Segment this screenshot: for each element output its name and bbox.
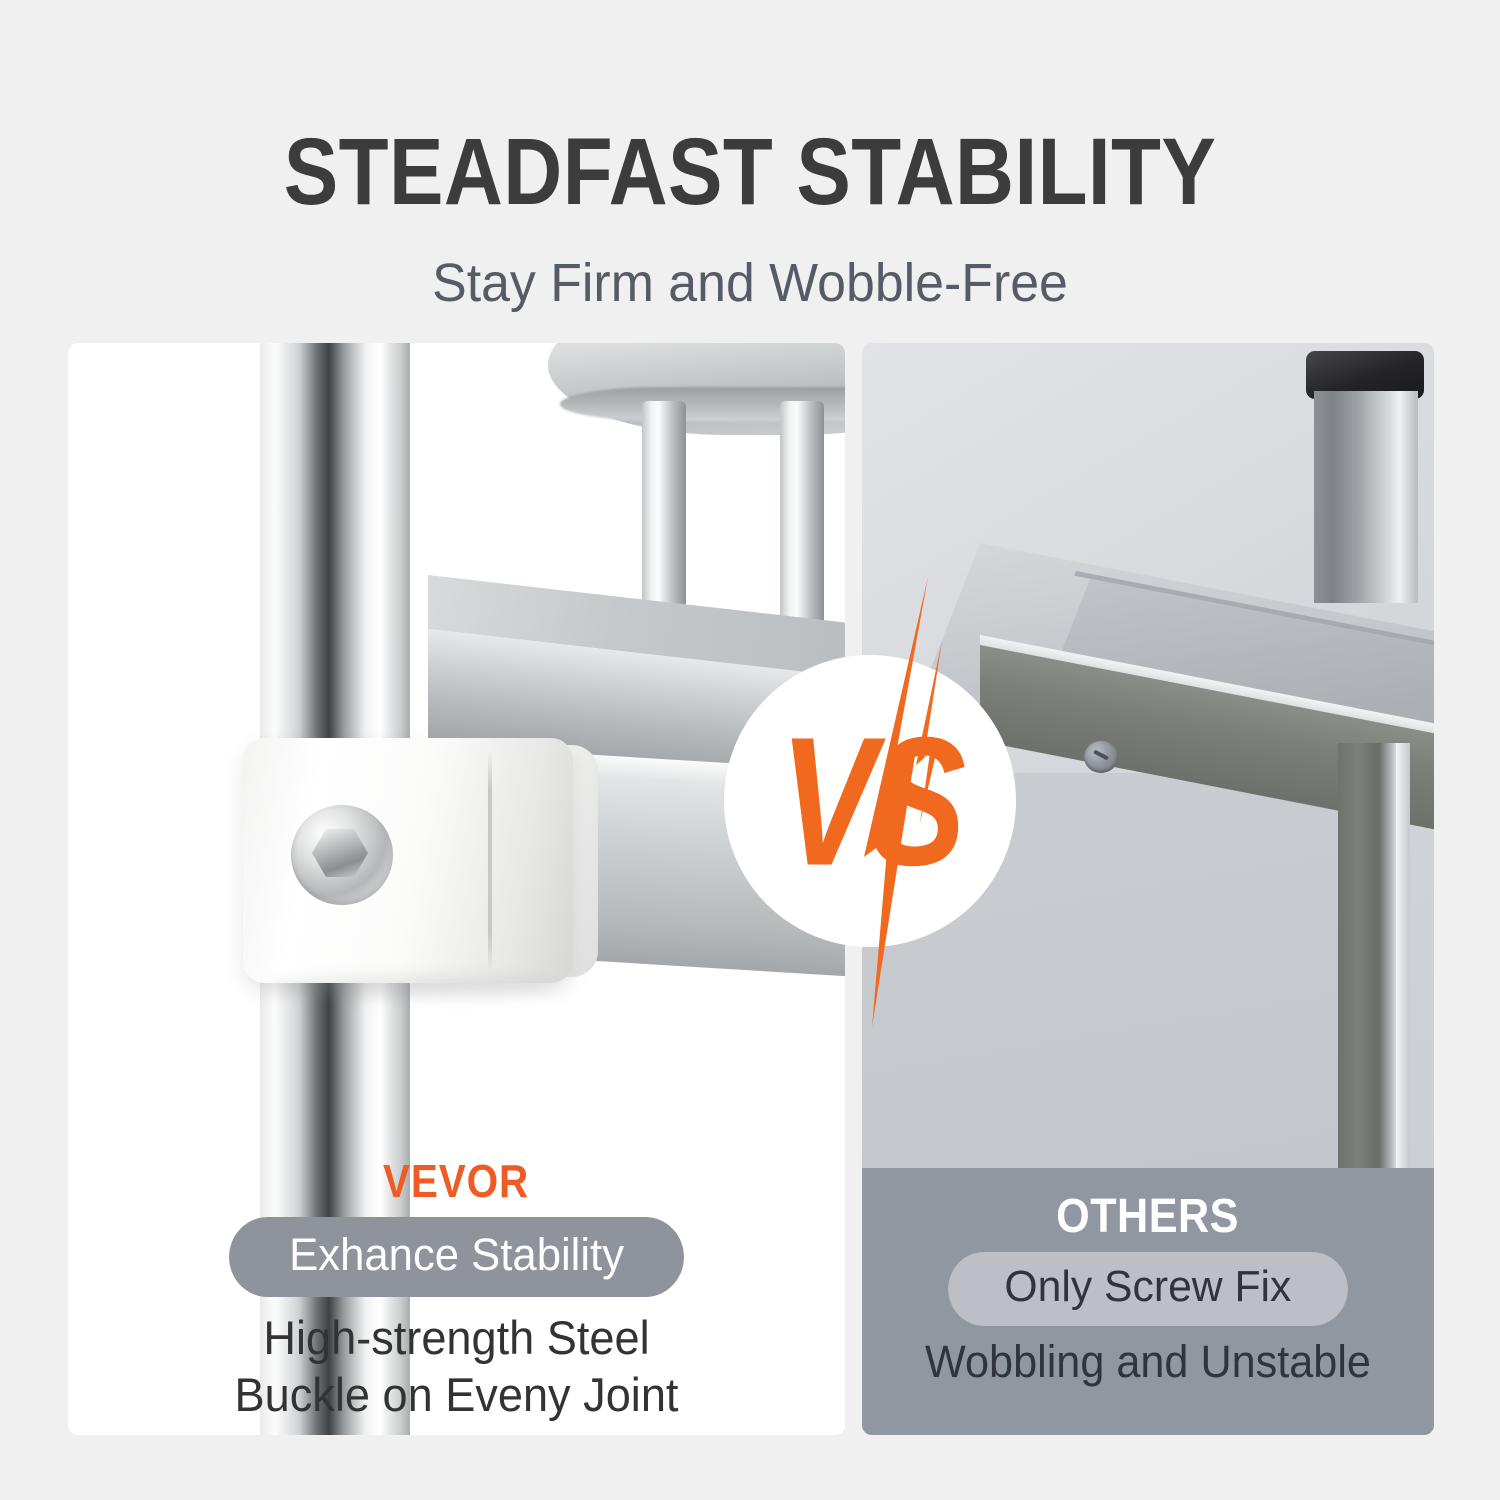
page-title: STEADFAST STABILITY xyxy=(105,122,1395,222)
vevor-caption-block: VEVOR Exhance Stability High-strength St… xyxy=(68,1155,845,1423)
others-heading: OTHERS xyxy=(1057,1190,1240,1244)
vs-badge: VS xyxy=(724,655,1016,947)
clamp-seam xyxy=(488,751,492,973)
vevor-brand-label: VEVOR xyxy=(383,1155,529,1207)
rear-square-leg xyxy=(1314,391,1418,603)
lightning-bolt-icon xyxy=(842,577,950,1027)
vevor-description-line-1: High-strength Steel xyxy=(84,1309,830,1366)
front-leg-highlight xyxy=(1396,743,1410,1223)
others-description: Wobbling and Unstable xyxy=(873,1334,1422,1390)
others-feature-pill: Only Screw Fix xyxy=(948,1252,1347,1326)
page-subtitle: Stay Firm and Wobble-Free xyxy=(30,252,1470,314)
vevor-description-line-2: Buckle on Eveny Joint xyxy=(84,1366,830,1423)
vevor-feature-pill: Exhance Stability xyxy=(229,1217,684,1297)
header: STEADFAST STABILITY Stay Firm and Wobble… xyxy=(0,0,1500,343)
others-caption-block: OTHERS Only Screw Fix Wobbling and Unsta… xyxy=(862,1190,1434,1390)
front-square-leg xyxy=(1338,743,1404,1223)
clamp-shadow xyxy=(268,975,558,997)
